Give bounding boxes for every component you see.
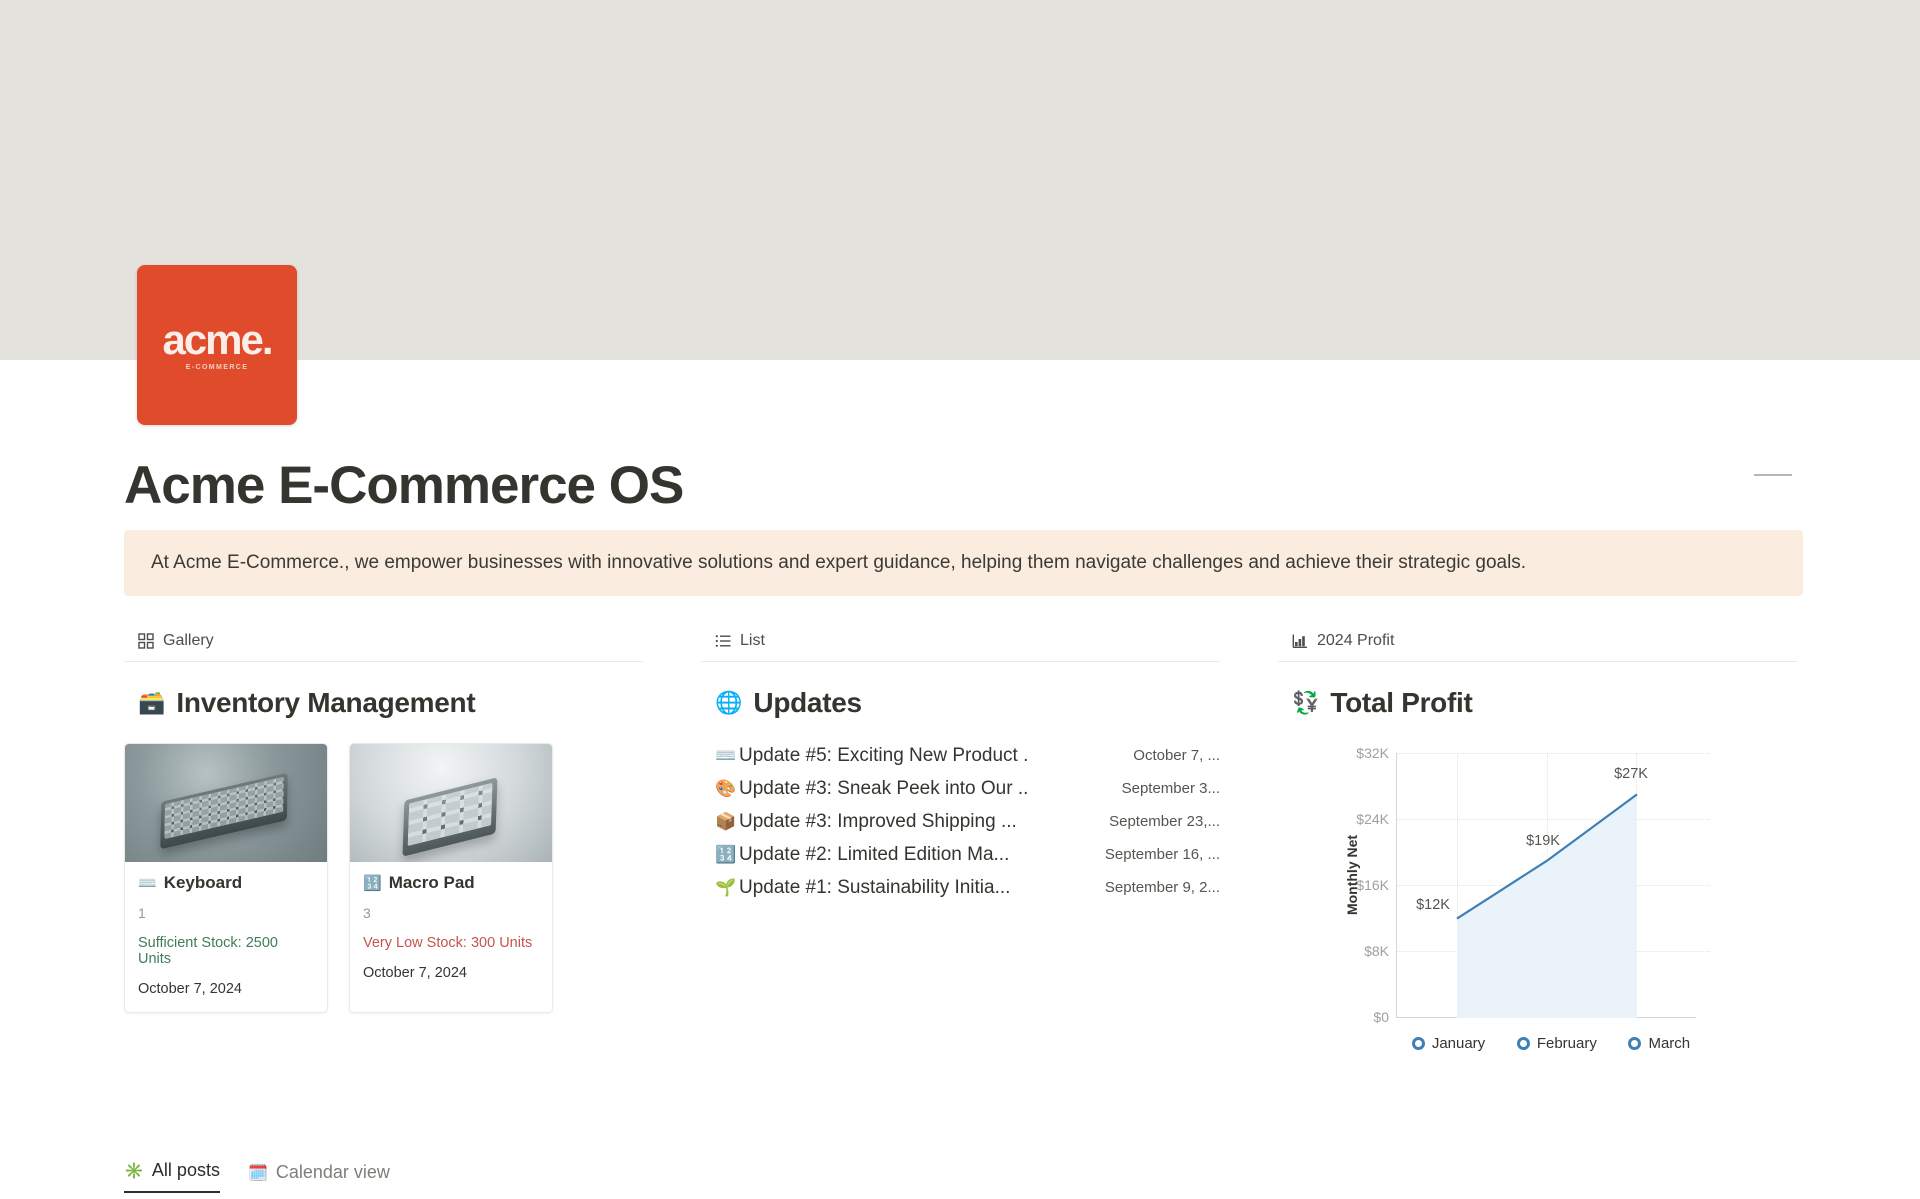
bottom-view-tabs: ✳️ All posts 🗓️ Calendar view bbox=[124, 1160, 390, 1193]
list-item-title: Update #5: Exciting New Product ... bbox=[739, 745, 1027, 767]
legend-item[interactable]: March bbox=[1628, 1035, 1690, 1052]
list-item-date: September 3... bbox=[1122, 780, 1220, 797]
globe-icon: 🌐 bbox=[715, 692, 742, 714]
tab-all-posts[interactable]: ✳️ All posts bbox=[124, 1160, 220, 1193]
y-axis-tick: $24K bbox=[1356, 811, 1397, 827]
list-item[interactable]: 🌱 Update #1: Sustainability Initia... Se… bbox=[715, 871, 1220, 904]
legend-label: January bbox=[1432, 1035, 1485, 1052]
card-date: October 7, 2024 bbox=[138, 981, 314, 997]
updates-list: ⌨️ Update #5: Exciting New Product ... O… bbox=[701, 739, 1220, 904]
profit-line-chart: Monthly Net $32K $24K $16K $8K $0 bbox=[1318, 747, 1748, 1057]
card-stock-status: Sufficient Stock: 2500 Units bbox=[138, 935, 314, 967]
callout-text: At Acme E-Commerce., we empower business… bbox=[151, 550, 1526, 576]
list-icon bbox=[715, 633, 731, 649]
card-number: 1 bbox=[138, 905, 314, 921]
column-profit: 2024 Profit 💱 Total Profit Monthly Net $… bbox=[1278, 632, 1797, 1057]
page-title-row: Acme E-Commerce OS bbox=[124, 455, 1824, 516]
legend-label: February bbox=[1537, 1035, 1597, 1052]
y-axis-tick: $16K bbox=[1356, 877, 1397, 893]
list-item[interactable]: 🎨 Update #3: Sneak Peek into Our ... Sep… bbox=[715, 772, 1220, 805]
card-title-label: Macro Pad bbox=[389, 873, 475, 893]
database-title-label: Inventory Management bbox=[176, 687, 475, 719]
currency-exchange-icon: 💱 bbox=[1292, 692, 1319, 714]
chart-plot-area: $32K $24K $16K $8K $0 $12K $19K $27K bbox=[1396, 753, 1696, 1018]
data-point-label: $12K bbox=[1416, 897, 1450, 913]
y-axis-tick: $32K bbox=[1356, 745, 1397, 761]
database-title-label: Total Profit bbox=[1330, 687, 1472, 719]
chart-series bbox=[1397, 753, 1697, 1018]
list-item[interactable]: ⌨️ Update #5: Exciting New Product ... O… bbox=[715, 739, 1220, 772]
asterisk-icon: ✳️ bbox=[124, 1161, 144, 1181]
palette-icon: 🎨 bbox=[715, 779, 739, 799]
card-body: ⌨️ Keyboard 1 Sufficient Stock: 2500 Uni… bbox=[125, 862, 327, 1012]
acme-logo[interactable]: acme. E-COMMERCE bbox=[137, 265, 297, 425]
data-point-label: $27K bbox=[1614, 766, 1648, 782]
macropad-shape bbox=[402, 777, 497, 856]
gallery-grid-icon bbox=[138, 633, 154, 649]
tab-label: All posts bbox=[152, 1160, 220, 1181]
list-item[interactable]: 📦 Update #3: Improved Shipping ... Septe… bbox=[715, 805, 1220, 838]
legend-label: March bbox=[1648, 1035, 1690, 1052]
numpad-icon: 🔢 bbox=[363, 874, 382, 892]
list-item-date: September 23,... bbox=[1109, 813, 1220, 830]
view-tab-label: 2024 Profit bbox=[1317, 632, 1394, 650]
card-title: ⌨️ Keyboard bbox=[138, 873, 314, 893]
database-title-inventory[interactable]: 🗃️ Inventory Management bbox=[124, 687, 643, 719]
column-layout: Gallery 🗃️ Inventory Management ⌨️ Keybo… bbox=[124, 632, 1804, 1057]
view-tab-label: List bbox=[740, 632, 765, 650]
legend-dot-icon bbox=[1628, 1037, 1641, 1050]
list-item-date: September 16, ... bbox=[1105, 846, 1220, 863]
list-item-title: Update #1: Sustainability Initia... bbox=[739, 877, 1010, 899]
column-inventory: Gallery 🗃️ Inventory Management ⌨️ Keybo… bbox=[124, 632, 643, 1057]
tab-calendar-view[interactable]: 🗓️ Calendar view bbox=[248, 1162, 390, 1193]
legend-dot-icon bbox=[1517, 1037, 1530, 1050]
logo-tagline: E-COMMERCE bbox=[186, 364, 249, 371]
legend-dot-icon bbox=[1412, 1037, 1425, 1050]
card-stock-status: Very Low Stock: 300 Units bbox=[363, 935, 539, 951]
macropad-photo bbox=[350, 744, 552, 862]
gallery-card[interactable]: ⌨️ Keyboard 1 Sufficient Stock: 2500 Uni… bbox=[124, 743, 328, 1013]
chart-legend: January February March bbox=[1396, 1035, 1706, 1052]
list-item-title: Update #2: Limited Edition Ma... bbox=[739, 844, 1009, 866]
callout-block: At Acme E-Commerce., we empower business… bbox=[124, 530, 1803, 596]
package-icon: 📦 bbox=[715, 812, 739, 832]
card-box-icon: 🗃️ bbox=[138, 692, 165, 714]
card-title-label: Keyboard bbox=[164, 873, 242, 893]
gallery-card[interactable]: 🔢 Macro Pad 3 Very Low Stock: 300 Units … bbox=[349, 743, 553, 1013]
minus-icon[interactable] bbox=[1754, 474, 1792, 476]
list-item-title: Update #3: Improved Shipping ... bbox=[739, 811, 1017, 833]
list-item-title: Update #3: Sneak Peek into Our ... bbox=[739, 778, 1027, 800]
view-tab-label: Gallery bbox=[163, 632, 214, 650]
data-point-label: $19K bbox=[1526, 833, 1560, 849]
y-axis-tick: $0 bbox=[1373, 1009, 1397, 1025]
list-item-date: October 7, ... bbox=[1133, 747, 1220, 764]
database-title-total-profit[interactable]: 💱 Total Profit bbox=[1278, 687, 1797, 719]
card-title: 🔢 Macro Pad bbox=[363, 873, 539, 893]
y-axis-title: Monthly Net bbox=[1344, 835, 1360, 915]
database-title-updates[interactable]: 🌐 Updates bbox=[701, 687, 1220, 719]
view-tab-list[interactable]: List bbox=[701, 632, 1220, 662]
view-tab-gallery[interactable]: Gallery bbox=[124, 632, 643, 662]
gallery-card-grid: ⌨️ Keyboard 1 Sufficient Stock: 2500 Uni… bbox=[124, 743, 643, 1013]
column-updates: List 🌐 Updates ⌨️ Update #5: Exciting Ne… bbox=[701, 632, 1220, 1057]
y-axis-tick: $8K bbox=[1364, 943, 1397, 959]
keyboard-icon: ⌨️ bbox=[715, 746, 739, 766]
view-tab-2024-profit[interactable]: 2024 Profit bbox=[1278, 632, 1797, 662]
keyboard-shape bbox=[160, 773, 287, 850]
database-title-label: Updates bbox=[753, 687, 861, 719]
page-title: Acme E-Commerce OS bbox=[124, 455, 683, 516]
card-body: 🔢 Macro Pad 3 Very Low Stock: 300 Units … bbox=[350, 862, 552, 996]
numpad-icon: 🔢 bbox=[715, 845, 739, 865]
list-item[interactable]: 🔢 Update #2: Limited Edition Ma... Septe… bbox=[715, 838, 1220, 871]
tab-label: Calendar view bbox=[276, 1162, 390, 1183]
seedling-icon: 🌱 bbox=[715, 878, 739, 898]
list-item-date: September 9, 2... bbox=[1105, 879, 1220, 896]
bar-chart-icon bbox=[1292, 633, 1308, 649]
keyboard-photo bbox=[125, 744, 327, 862]
legend-item[interactable]: February bbox=[1517, 1035, 1597, 1052]
logo-wordmark: acme. bbox=[162, 319, 271, 361]
card-date: October 7, 2024 bbox=[363, 965, 539, 981]
card-number: 3 bbox=[363, 905, 539, 921]
calendar-icon: 🗓️ bbox=[248, 1163, 268, 1183]
legend-item[interactable]: January bbox=[1412, 1035, 1485, 1052]
keyboard-icon: ⌨️ bbox=[138, 874, 157, 892]
